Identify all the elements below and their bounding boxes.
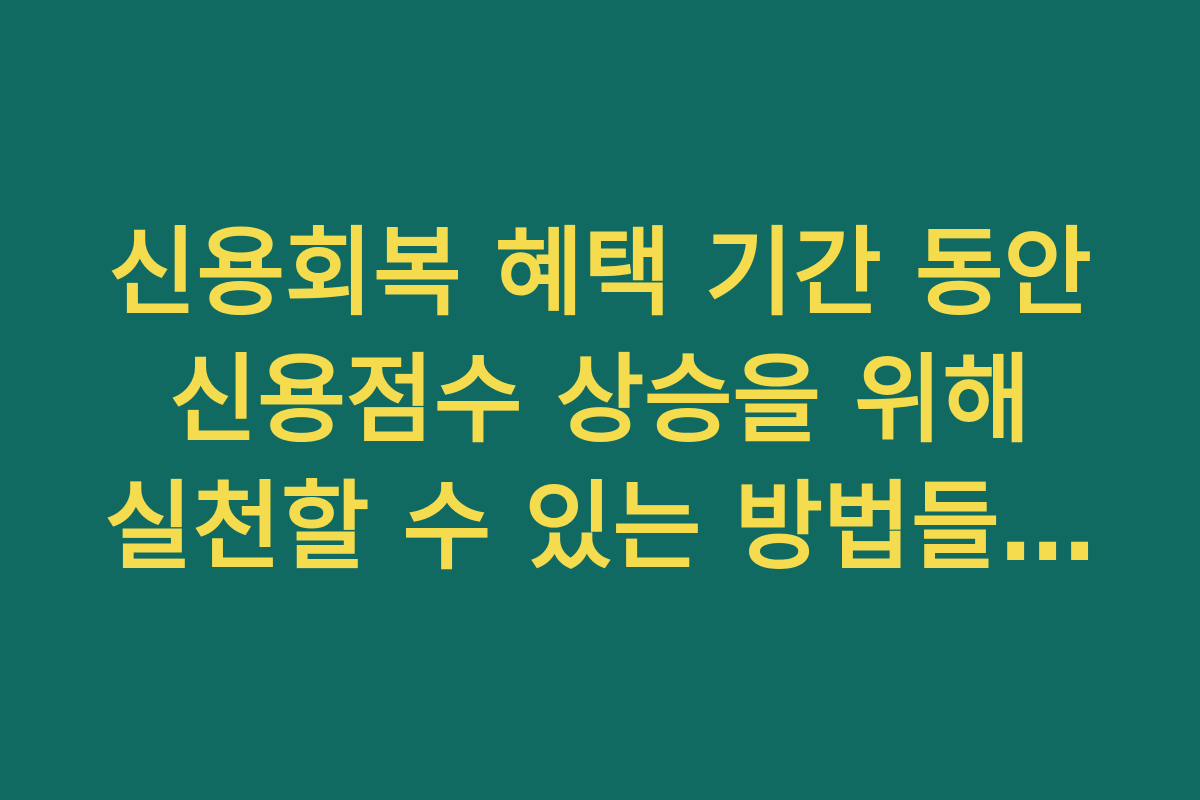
headline-line-3: 실천할 수 있는 방법들… <box>40 464 1160 591</box>
headline-line-1: 신용회복 혜택 기간 동안 <box>40 210 1160 337</box>
headline-line-2: 신용점수 상승을 위해 <box>40 337 1160 464</box>
headline: 신용회복 혜택 기간 동안 신용점수 상승을 위해 실천할 수 있는 방법들… <box>40 210 1160 591</box>
text-card: 신용회복 혜택 기간 동안 신용점수 상승을 위해 실천할 수 있는 방법들… <box>0 0 1200 800</box>
